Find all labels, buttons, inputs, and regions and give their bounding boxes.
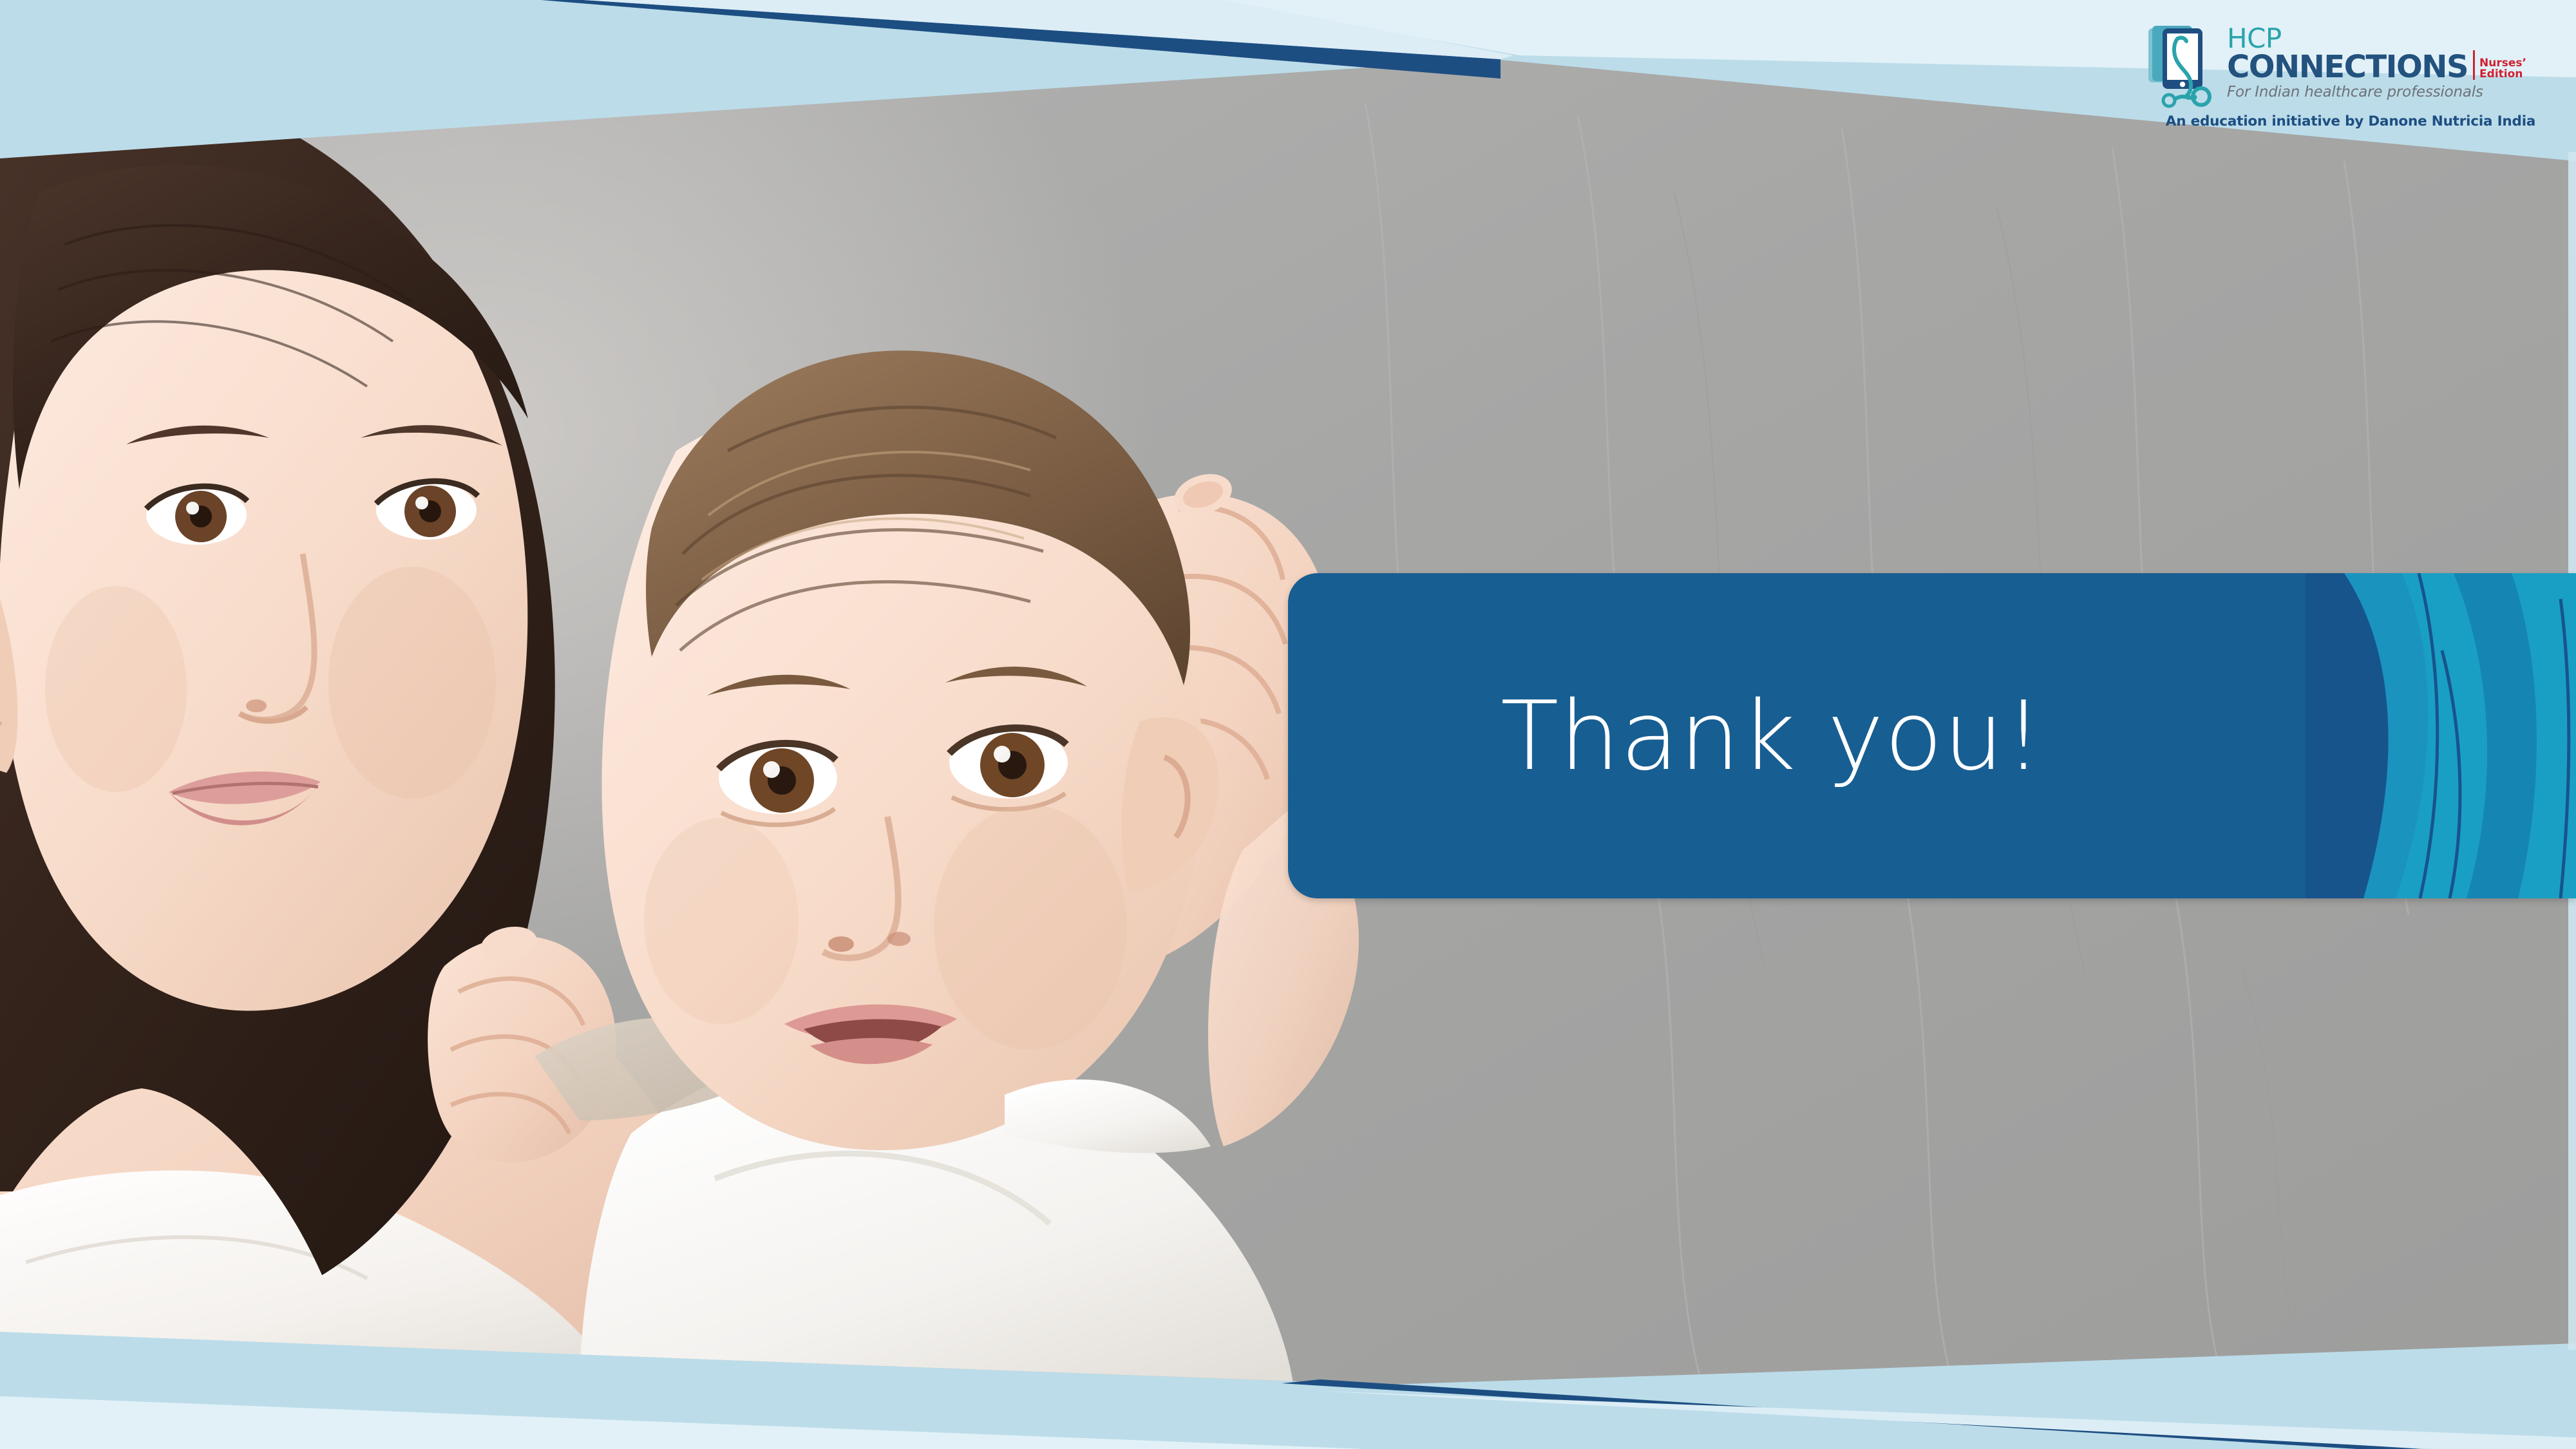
logo-initiative-line: An education initiative by Danone Nutric… <box>2145 113 2557 129</box>
logo-brand-connections: CONNECTIONS <box>2227 53 2468 82</box>
tablet-stethoscope-icon <box>2145 24 2222 109</box>
slide-canvas: Thank you! <box>0 0 2576 1449</box>
logo-tagline: For Indian healthcare professionals <box>2227 84 2557 100</box>
banner-wave-decoration <box>2306 573 2576 898</box>
thank-you-text: Thank you! <box>1501 688 2043 784</box>
logo-edition-line-2: Edition <box>2479 69 2526 80</box>
thank-you-banner: Thank you! <box>1288 573 2576 898</box>
hcp-connections-logo: HCP CONNECTIONS Nurses’ Edition For Indi… <box>2145 24 2557 153</box>
logo-edition-divider <box>2473 50 2475 80</box>
logo-edition-label: Nurses’ Edition <box>2479 58 2526 82</box>
logo-brand-hcp: HCP <box>2227 26 2557 52</box>
